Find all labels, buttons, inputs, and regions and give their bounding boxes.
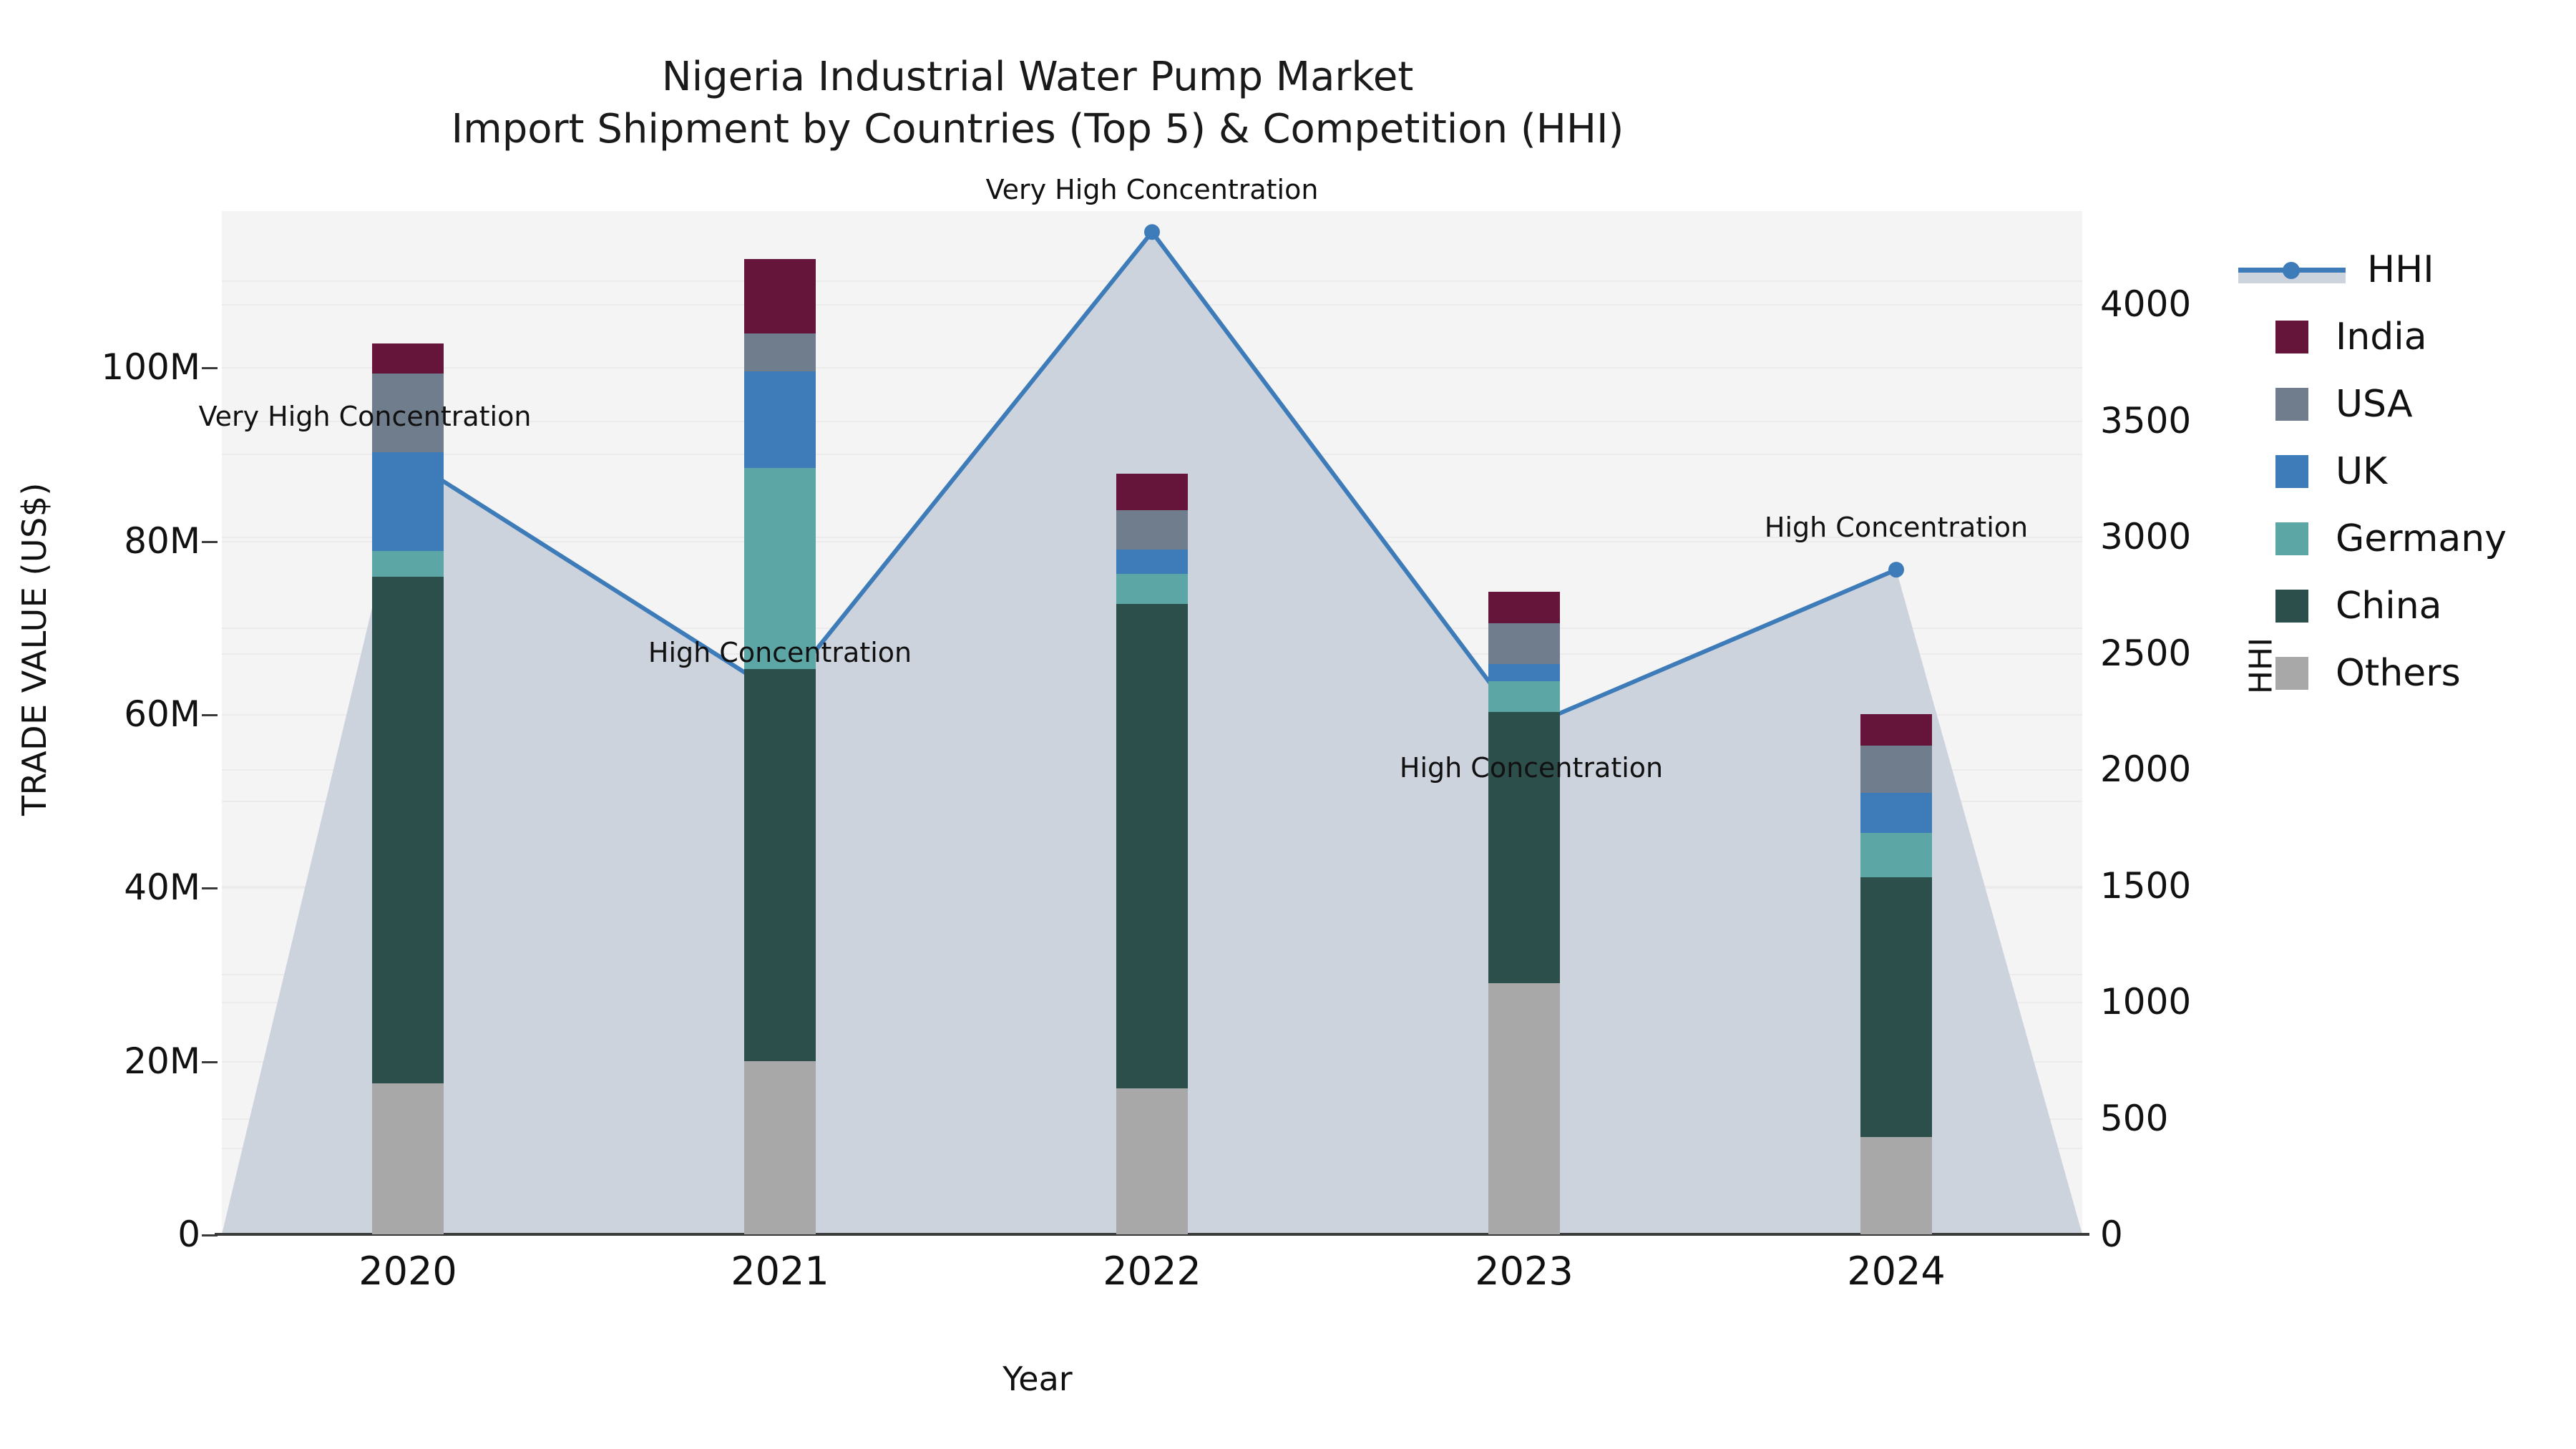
bar-segment-india[interactable] (744, 259, 816, 333)
stacked-bar-2024[interactable] (1860, 211, 1932, 1234)
y-tick-label: 60M (124, 693, 200, 735)
annotation-2024: High Concentration (1765, 512, 2028, 543)
x-tick-label-2023: 2023 (1475, 1249, 1573, 1294)
chart-canvas: Nigeria Industrial Water Pump Market Imp… (0, 0, 2576, 1449)
legend: HHIIndiaUSAUKGermanyChinaOthers (2275, 236, 2507, 707)
chart-title: Nigeria Industrial Water Pump Market Imp… (0, 52, 2075, 156)
stacked-bar-2022[interactable] (1116, 211, 1188, 1234)
legend-label: India (2336, 316, 2427, 358)
x-tick-label-2021: 2021 (731, 1249, 829, 1294)
bar-segment-others[interactable] (744, 1061, 816, 1234)
bar-segment-china[interactable] (372, 577, 444, 1083)
x-axis-label: Year (0, 1360, 2075, 1398)
y-tick-label: 40M (124, 867, 200, 908)
x-tick-label-2024: 2024 (1847, 1249, 1945, 1294)
bar-segment-uk[interactable] (744, 371, 816, 468)
bar-segment-china[interactable] (1116, 604, 1188, 1088)
y2-axis-label: HHI (2243, 595, 2280, 738)
y2-tick-label: 0 (2100, 1214, 2123, 1255)
bar-segment-china[interactable] (744, 669, 816, 1061)
y-tick-mark (202, 1061, 218, 1063)
legend-label: China (2336, 585, 2442, 628)
y-axis-label: TRADE VALUE (US$) (15, 427, 54, 871)
x-tick-label-2020: 2020 (358, 1249, 457, 1294)
legend-item-germany[interactable]: Germany (2275, 505, 2507, 572)
bar-segment-usa[interactable] (1116, 510, 1188, 550)
stacked-bar-2020[interactable] (372, 211, 444, 1234)
y-tick-mark (202, 714, 218, 716)
chart-title-line1: Nigeria Industrial Water Pump Market (0, 52, 2075, 104)
bar-segment-usa[interactable] (744, 333, 816, 371)
bar-segment-germany[interactable] (1116, 574, 1188, 604)
y2-tick-label: 2000 (2100, 748, 2191, 790)
bar-segment-india[interactable] (1116, 474, 1188, 510)
y-tick-label: 80M (124, 520, 200, 562)
bar-segment-uk[interactable] (1860, 793, 1932, 833)
y-tick-mark (202, 541, 218, 543)
bar-segment-others[interactable] (1860, 1137, 1932, 1234)
y2-tick-label: 2500 (2100, 633, 2191, 674)
y2-tick-label: 3500 (2100, 400, 2191, 441)
legend-label: UK (2336, 450, 2387, 493)
bar-segment-germany[interactable] (1488, 681, 1560, 713)
bar-segment-others[interactable] (372, 1083, 444, 1234)
legend-item-usa[interactable]: USA (2275, 371, 2507, 438)
legend-item-india[interactable]: India (2275, 303, 2507, 371)
legend-swatch-usa (2275, 388, 2308, 421)
y2-tick-label: 3000 (2100, 516, 2191, 557)
y-tick-label: 0 (177, 1214, 200, 1255)
x-tick-label-2022: 2022 (1103, 1249, 1201, 1294)
legend-label: Germany (2336, 517, 2507, 560)
legend-swatch-others (2275, 657, 2308, 690)
legend-item-hhi[interactable]: HHI (2275, 236, 2507, 303)
legend-label: Others (2336, 652, 2461, 695)
annotation-2022: Very High Concentration (986, 174, 1319, 205)
legend-label: USA (2336, 383, 2413, 426)
bar-segment-india[interactable] (1488, 592, 1560, 623)
y2-tick-label: 1500 (2100, 865, 2191, 907)
legend-swatch-china (2275, 590, 2308, 623)
annotation-2021: High Concentration (648, 637, 912, 668)
legend-label: HHI (2367, 248, 2434, 291)
legend-swatch-germany (2275, 522, 2308, 555)
y2-tick-label: 4000 (2100, 283, 2191, 325)
bar-segment-others[interactable] (1116, 1088, 1188, 1234)
legend-swatch-india (2275, 321, 2308, 353)
y-tick-label: 20M (124, 1040, 200, 1082)
stacked-bar-2021[interactable] (744, 211, 816, 1234)
legend-swatch-uk (2275, 455, 2308, 488)
bar-segment-uk[interactable] (1116, 550, 1188, 574)
y-tick-mark (202, 887, 218, 889)
bar-segment-germany[interactable] (1860, 833, 1932, 877)
chart-title-line2: Import Shipment by Countries (Top 5) & C… (0, 104, 2075, 156)
y-tick-mark (202, 367, 218, 369)
annotation-2023: High Concentration (1400, 752, 1663, 784)
hhi-line-swatch (2238, 253, 2346, 286)
legend-item-uk[interactable]: UK (2275, 438, 2507, 505)
y2-tick-label: 1000 (2100, 981, 2191, 1023)
bar-segment-china[interactable] (1860, 877, 1932, 1138)
stacked-bar-2023[interactable] (1488, 211, 1560, 1234)
y-tick-label: 100M (101, 346, 200, 388)
bar-segment-usa[interactable] (1860, 746, 1932, 794)
bar-segment-others[interactable] (1488, 983, 1560, 1234)
bar-segment-germany[interactable] (372, 551, 444, 577)
legend-item-others[interactable]: Others (2275, 640, 2507, 707)
bar-segment-india[interactable] (372, 343, 444, 373)
bar-segment-usa[interactable] (1488, 623, 1560, 664)
annotation-2020: Very High Concentration (199, 401, 532, 432)
bar-segment-india[interactable] (1860, 714, 1932, 746)
legend-item-china[interactable]: China (2275, 572, 2507, 640)
bar-segment-uk[interactable] (372, 452, 444, 551)
y-tick-mark (202, 1234, 218, 1236)
bar-segment-uk[interactable] (1488, 664, 1560, 681)
y2-tick-label: 500 (2100, 1098, 2168, 1139)
